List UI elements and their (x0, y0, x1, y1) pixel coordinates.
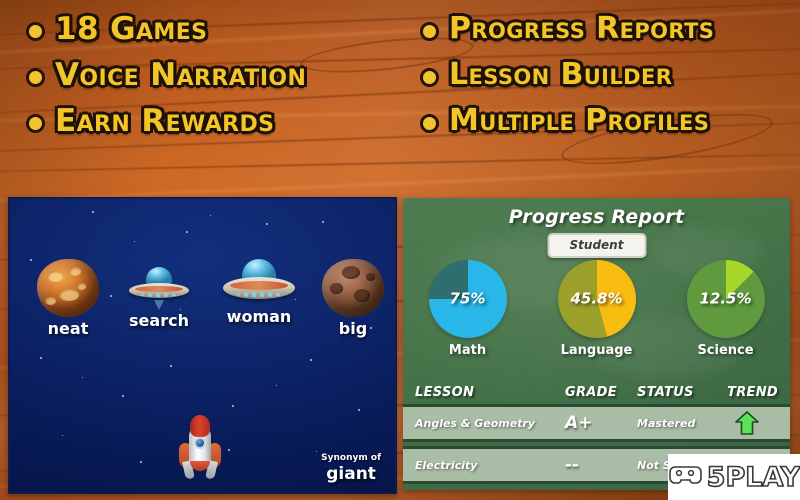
bullet-dot-icon (26, 68, 45, 87)
chart-subject-label: Language (542, 343, 652, 358)
bullet-dot-icon (420, 114, 439, 133)
bullet-dot-icon (420, 22, 439, 41)
cell-status: Mastered (637, 417, 716, 430)
word-target-2[interactable]: woman (213, 259, 305, 326)
column-header-status: STATUS (637, 385, 716, 400)
word-target-1[interactable]: search (116, 267, 202, 330)
pie-chart-science: 12.5% (687, 260, 765, 338)
feature-column-right: Progress Reports Lesson Builder Multiple… (406, 6, 800, 176)
cell-trend (716, 410, 778, 436)
feature-label: Progress Reports (449, 12, 714, 46)
pie-chart-math: 75% (429, 260, 507, 338)
column-header-trend: TREND (716, 385, 778, 400)
prompt-instruction: Synonym of (321, 453, 381, 463)
up-arrow-icon (716, 410, 778, 436)
word-label: big (315, 319, 391, 338)
feature-label: Multiple Profiles (449, 104, 709, 138)
feature-item: Multiple Profiles (420, 98, 800, 144)
ufo-small-icon (129, 267, 189, 303)
bullet-dot-icon (26, 114, 45, 133)
asteroid-brown-icon (322, 259, 384, 317)
question-prompt: Synonym of giant (321, 453, 381, 484)
word-label: woman (213, 307, 305, 326)
page-title: Progress Report (403, 206, 790, 228)
watermark-text: 5PLAY (707, 462, 800, 493)
pie-value-label: 45.8% (558, 290, 636, 308)
prompt-word: giant (321, 464, 381, 484)
pie-value-label: 12.5% (687, 290, 765, 308)
feature-item: Lesson Builder (420, 52, 800, 98)
feature-item: Progress Reports (420, 6, 800, 52)
bullet-dot-icon (26, 22, 45, 41)
game-controller-icon (668, 464, 702, 491)
feature-item: Voice Narration (26, 52, 406, 98)
word-label: search (116, 311, 202, 330)
feature-label: 18 Games (55, 12, 207, 46)
feature-label: Lesson Builder (449, 58, 672, 92)
feature-column-left: 18 Games Voice Narration Earn Rewards (0, 6, 406, 176)
table-header-row: LESSON GRADE STATUS TREND (403, 380, 790, 404)
feature-label: Earn Rewards (55, 104, 274, 138)
feature-label: Voice Narration (55, 58, 306, 92)
column-header-grade: GRADE (565, 385, 637, 400)
space-game-panel[interactable]: neat search woman (8, 197, 397, 494)
feature-item: Earn Rewards (26, 98, 406, 144)
feature-item: 18 Games (26, 6, 406, 52)
feature-list: 18 Games Voice Narration Earn Rewards Pr… (0, 6, 800, 176)
asteroid-orange-icon (37, 259, 99, 317)
pie-value-label: 75% (429, 290, 507, 308)
pie-chart-language: 45.8% (558, 260, 636, 338)
progress-charts: 75% Math 45.8% Language 12.5% Science (403, 260, 790, 358)
rocket-icon[interactable] (178, 417, 222, 479)
word-label: neat (28, 319, 108, 338)
chart-subject-label: Math (413, 343, 523, 358)
column-header-lesson: LESSON (415, 385, 565, 400)
chart-science[interactable]: 12.5% Science (671, 260, 781, 358)
bullet-dot-icon (420, 68, 439, 87)
promo-screenshot: 18 Games Voice Narration Earn Rewards Pr… (0, 0, 800, 500)
word-target-0[interactable]: neat (28, 259, 108, 338)
chart-subject-label: Science (671, 343, 781, 358)
chart-language[interactable]: 45.8% Language (542, 260, 652, 358)
cell-lesson: Electricity (415, 459, 565, 472)
word-target-3[interactable]: big (315, 259, 391, 338)
table-row[interactable]: Angles & Geometry A+ Mastered (403, 404, 790, 442)
profile-selector-button[interactable]: Student (547, 233, 646, 258)
ufo-large-icon (223, 259, 295, 303)
cell-lesson: Angles & Geometry (415, 417, 565, 430)
watermark: 5PLAY (668, 454, 800, 500)
chart-math[interactable]: 75% Math (413, 260, 523, 358)
cell-grade: A+ (565, 413, 637, 433)
progress-report-panel[interactable]: Progress Report Student 75% Math 45.8% L… (403, 198, 790, 490)
cell-grade: -- (565, 455, 637, 475)
